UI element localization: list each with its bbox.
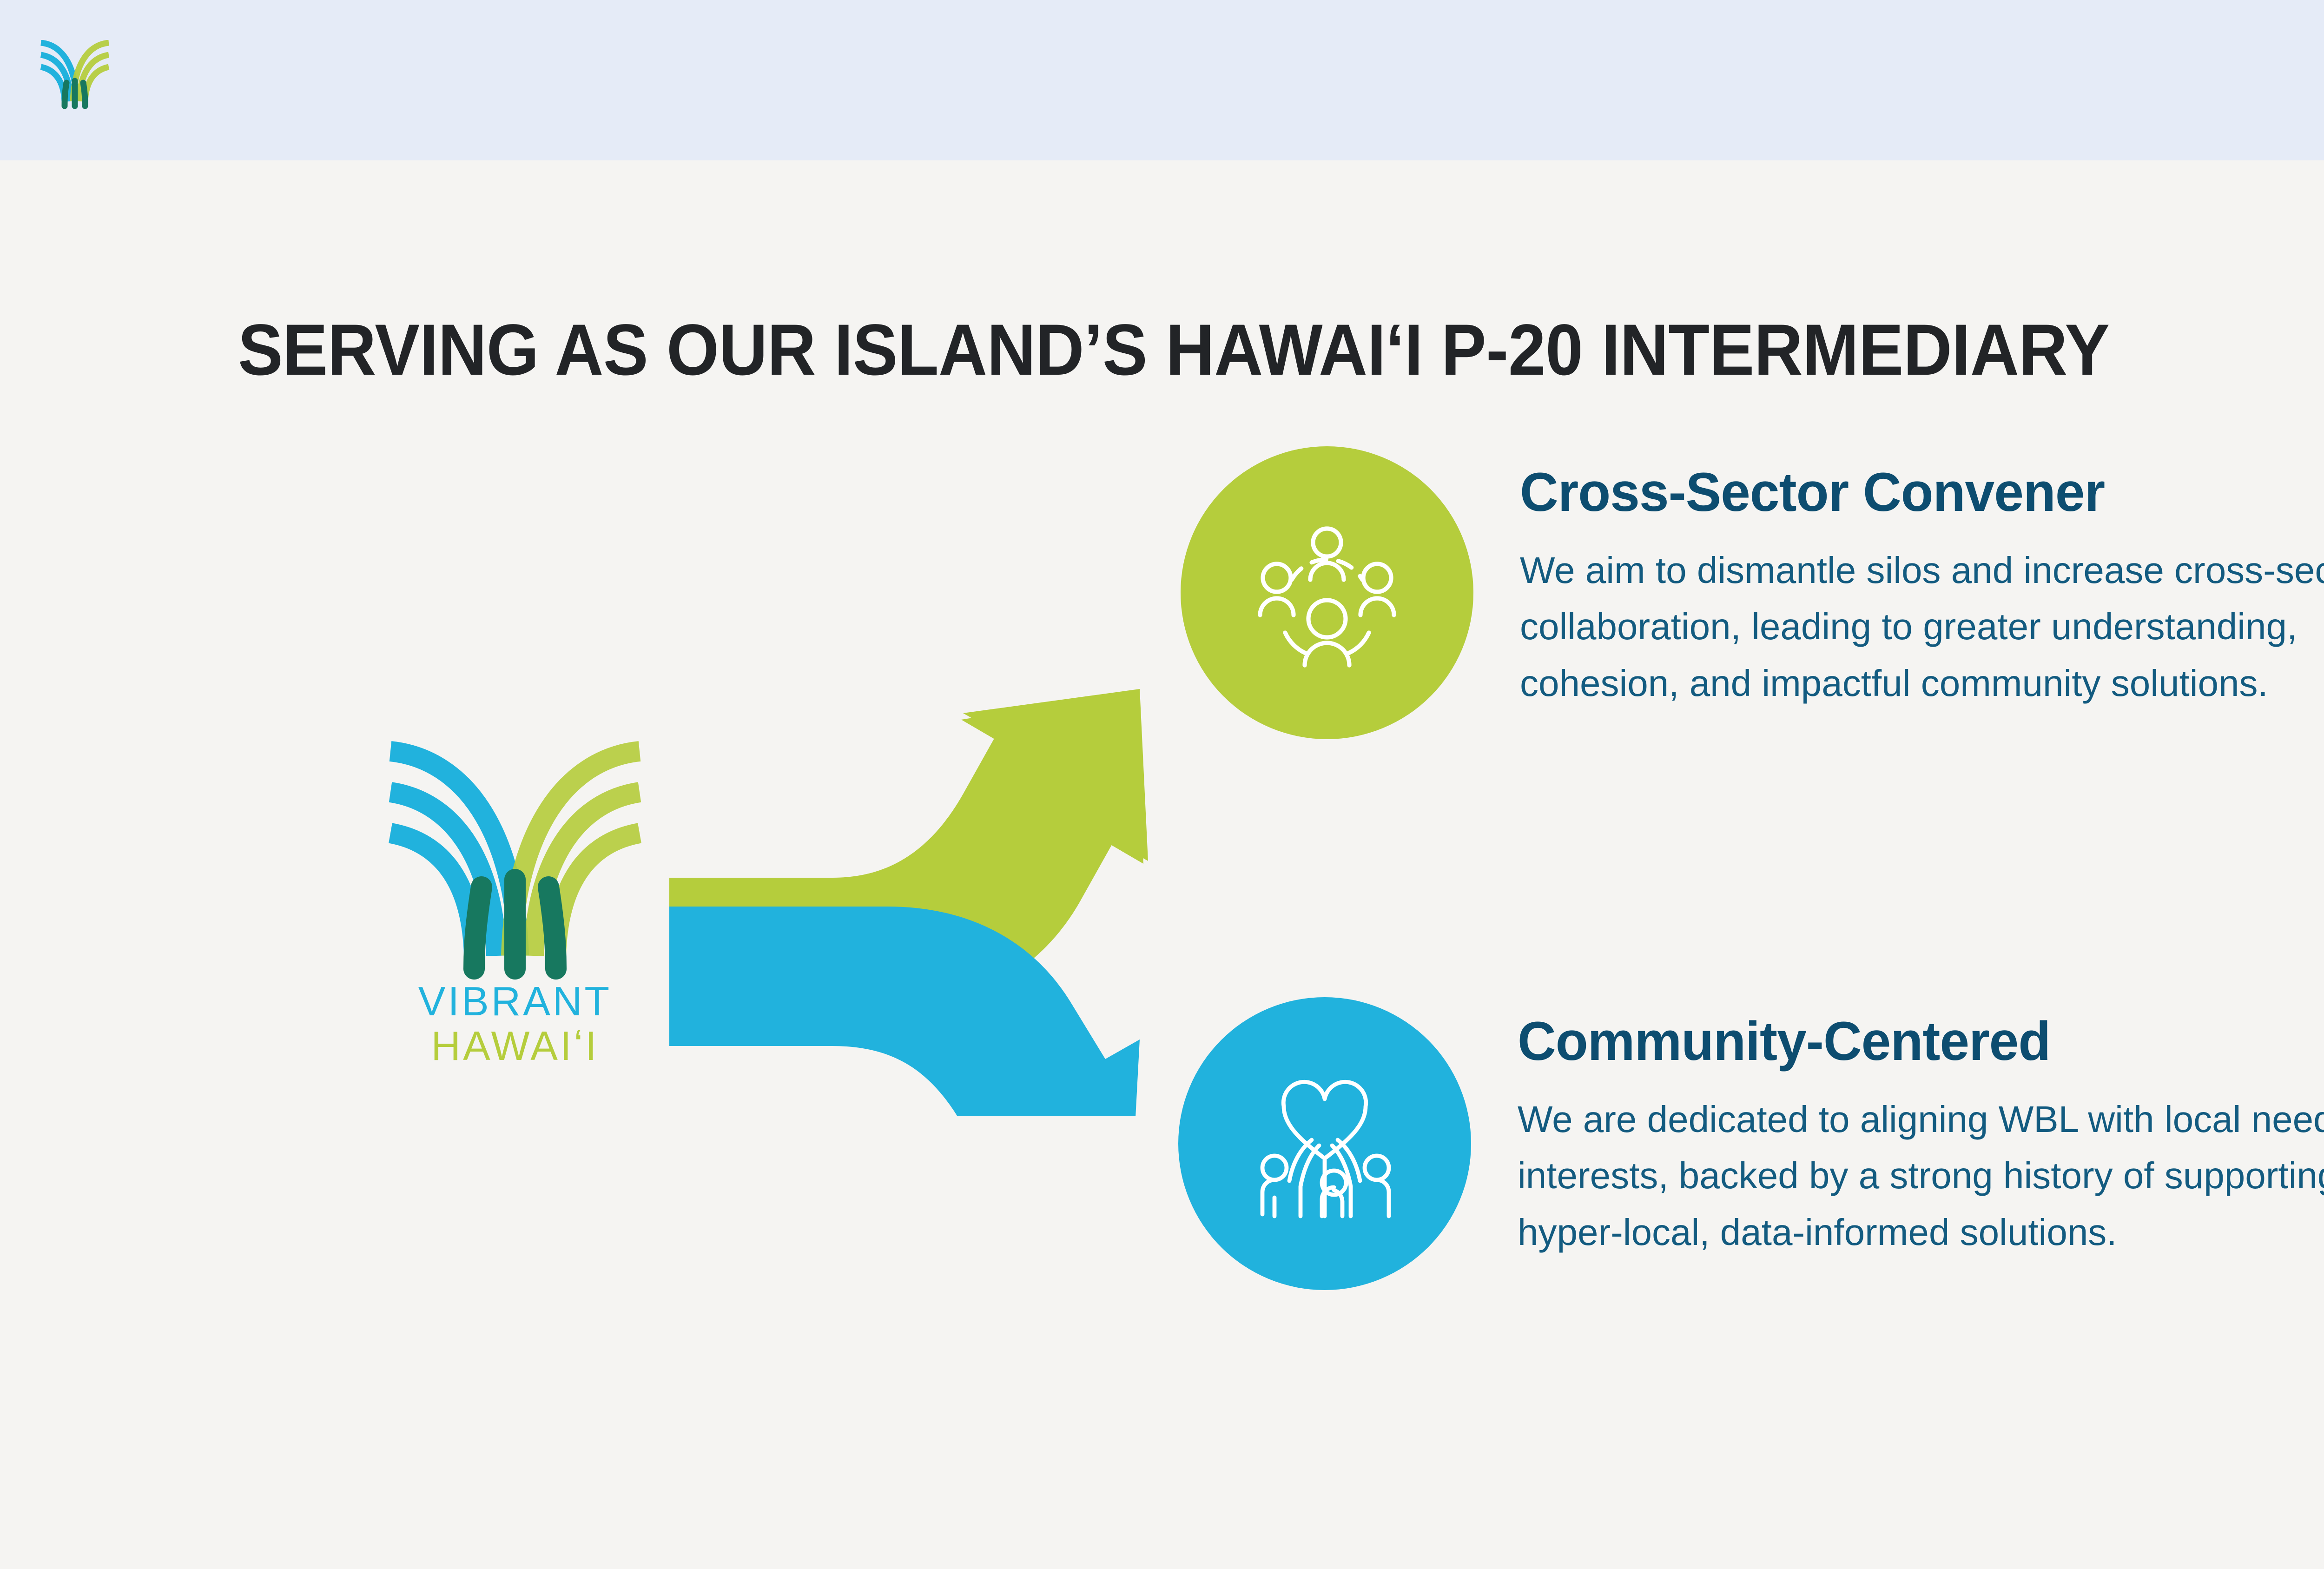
vibrant-hawaii-mark-icon [40,40,110,118]
panel-cross-sector-convener: Cross-Sector Convener We aim to dismantl… [1181,446,2324,739]
panel-heading: Cross-Sector Convener [1520,464,2324,522]
panel-text-block: Cross-Sector Convener We aim to dismantl… [1520,446,2324,712]
panel-icon-circle-blue [1178,997,1471,1290]
panel-community-centered: Community-Centered We are dedicated to a… [1178,997,2324,1290]
panel-text-block: Community-Centered We are dedicated to a… [1518,997,2324,1261]
header-band [0,0,2324,160]
page-title: SERVING AS OUR ISLAND’S HAWAIʻI P-20 INT… [238,314,2324,386]
people-network-icon [1234,500,1420,686]
panel-body: We are dedicated to aligning WBL with lo… [1518,1091,2324,1261]
logo-wordmark-line2: HAWAIʻI [431,1023,599,1069]
logo-wordmark-line1: VIBRANT [418,978,612,1024]
branching-arrows [669,688,1162,1116]
vibrant-hawaii-logo: VIBRANT HAWAIʻI [385,740,645,1070]
panel-heading: Community-Centered [1518,1013,2324,1071]
blue-arrow-body [669,907,1140,1116]
panel-body: We aim to dismantle silos and increase c… [1520,542,2324,712]
family-holding-heart-icon [1232,1051,1418,1237]
panel-icon-circle-green [1181,446,1473,739]
